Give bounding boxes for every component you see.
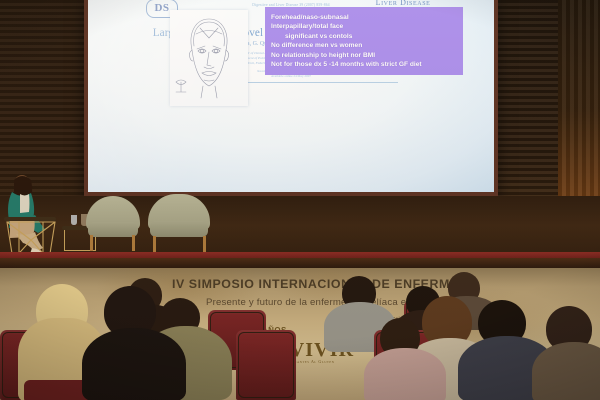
findings-box: Forehead/naso-subnasal Interpapillary/to… — [265, 7, 463, 75]
projection-screen[interactable]: DS Digestive and Liver Disease 39 (2007)… — [88, 0, 494, 192]
finding-line-6: Not for those dx 5 -14 months with stric… — [271, 60, 463, 69]
shoulders — [532, 342, 600, 400]
stool-top — [4, 217, 56, 221]
finding-line-3: significant vs contols — [271, 32, 463, 41]
audience-seat-mid-1[interactable] — [236, 330, 296, 400]
armchair-left[interactable] — [86, 196, 140, 254]
armchair-right[interactable] — [148, 194, 210, 256]
face-sketch-icon — [170, 10, 248, 106]
conference-photo: DS Digestive and Liver Disease 39 (2007)… — [0, 0, 600, 400]
armchair-right-leg-1 — [153, 236, 156, 252]
finding-line-1: Forehead/naso-subnasal — [271, 13, 463, 22]
shoulders — [364, 348, 446, 400]
armchair-right-leg-2 — [203, 236, 206, 252]
armchair-left-leg-2 — [132, 235, 135, 251]
slide-content: DS Digestive and Liver Disease 39 (2007)… — [88, 0, 494, 192]
person-pink-shirt — [366, 318, 440, 400]
armchair-left-seat — [88, 222, 138, 237]
person-dark-hair-black-shirt — [86, 286, 182, 400]
journal-name: Liver Disease — [348, 0, 458, 7]
armchair-left-leg-1 — [90, 235, 93, 251]
shoulders — [82, 328, 186, 400]
finding-line-4: No difference men vs women — [271, 41, 463, 50]
person-far-right — [538, 306, 600, 400]
finding-line-2: Interpapillary/total face — [271, 22, 463, 31]
finding-line-5: No relationship to height nor BMI — [271, 51, 463, 60]
face-sketch-figure — [170, 10, 248, 106]
armchair-right-seat — [150, 221, 207, 237]
